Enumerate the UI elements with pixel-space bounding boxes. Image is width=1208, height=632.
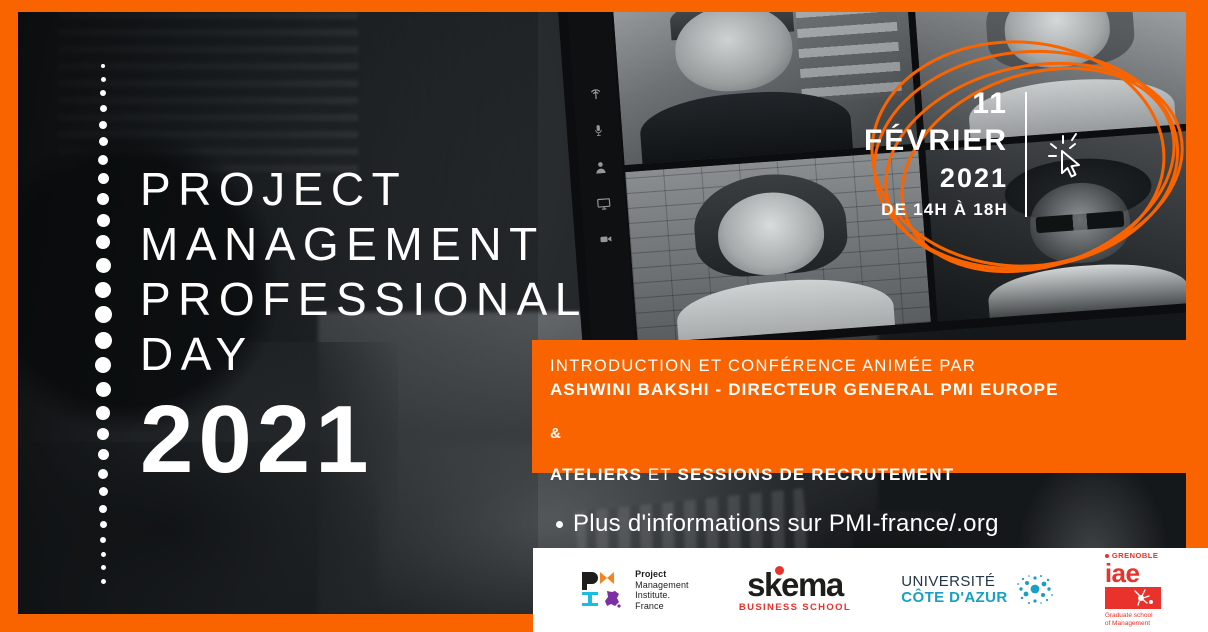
iae-subtitle: Graduate school of Management (1105, 612, 1153, 628)
pmi-logo-text: Project Management Institute. France (635, 569, 689, 611)
workshops-conjunction: ET (642, 465, 677, 484)
uca-text-line-2: CÔTE D'AZUR (901, 590, 1007, 606)
microphone-icon (591, 123, 605, 144)
date-divider (1025, 92, 1027, 217)
iae-wordmark: iae (1105, 561, 1140, 585)
headline-line-4: DAY (140, 327, 588, 382)
pmi-mark-icon (580, 570, 626, 610)
decorative-dot-column (90, 64, 116, 584)
signal-waves-icon (587, 86, 603, 107)
headline-line-3: PROFESSIONAL (140, 272, 588, 327)
bullet-icon (556, 521, 563, 528)
speaker-name-text: ASHWINI BAKSHI - DIRECTEUR GENERAL PMI E… (550, 378, 1186, 402)
skema-dot-icon (775, 566, 784, 575)
monitor-icon (594, 196, 612, 216)
workshops-line: ATELIERS ET SESSIONS DE RECRUTEMENT (550, 463, 1186, 487)
iae-graphic-block (1105, 587, 1161, 609)
pmi-france-logo: Project Management Institute. France (580, 569, 689, 611)
universite-cote-dazur-logo: UNIVERSITÉ CÔTE D'AZUR (901, 573, 1054, 607)
headline-line-1: PROJECT (140, 162, 588, 217)
iae-subtitle-line-2: of Management (1105, 620, 1153, 628)
ampersand-separator: & (550, 424, 1186, 444)
video-camera-icon (596, 232, 615, 251)
pmi-text-line-4: France (635, 601, 689, 612)
click-cursor-icon (1044, 88, 1090, 223)
date-hours: DE 14H À 18H (864, 197, 1008, 223)
more-info-text: Plus d'informations sur PMI-france/.org (573, 510, 999, 538)
skema-subtitle: BUSINESS SCHOOL (739, 603, 851, 613)
date-text-group: 11 FÉVRIER 2021 DE 14H À 18H (864, 88, 1008, 223)
date-month: FÉVRIER (864, 122, 1008, 160)
iae-burst-icon (1105, 587, 1161, 609)
headline-year: 2021 (140, 388, 588, 492)
person-icon (593, 159, 608, 180)
uca-text-line-1: UNIVERSITÉ (901, 574, 1007, 590)
recruitment-label: SESSIONS DE RECRUTEMENT (677, 465, 954, 484)
date-year: 2021 (864, 162, 1008, 195)
more-info-line: Plus d'informations sur PMI-france/.org (556, 510, 999, 538)
pmi-text-line-2: Management (635, 580, 689, 591)
speaker-info-panel: INTRODUCTION ET CONFÉRENCE ANIMÉE PAR AS… (532, 340, 1186, 473)
event-headline: PROJECT MANAGEMENT PROFESSIONAL DAY 2021 (140, 162, 588, 492)
skema-logo: skema BUSINESS SCHOOL (739, 568, 851, 613)
uca-logo-text: UNIVERSITÉ CÔTE D'AZUR (901, 574, 1007, 606)
event-banner: PROJECT MANAGEMENT PROFESSIONAL DAY 2021… (0, 0, 1208, 632)
background-photo: PROJECT MANAGEMENT PROFESSIONAL DAY 2021… (18, 12, 1186, 614)
workshops-label: ATELIERS (550, 465, 642, 484)
partner-logo-bar: Project Management Institute. France ske… (533, 548, 1208, 632)
date-day: 11 (864, 88, 1008, 120)
pmi-text-line-3: Institute. (635, 590, 689, 601)
iae-subtitle-line-1: Graduate school (1105, 612, 1153, 620)
speaker-intro-text: INTRODUCTION ET CONFÉRENCE ANIMÉE PAR (550, 354, 1186, 378)
pmi-text-line-1: Project (635, 569, 689, 580)
grenoble-iae-logo: GRENOBLE iae Graduate school of Manageme… (1105, 552, 1161, 628)
headline-line-2: MANAGEMENT (140, 217, 588, 272)
event-date-block: 11 FÉVRIER 2021 DE 14H À 18H (864, 88, 1090, 223)
skema-word-text: skema (747, 566, 843, 603)
uca-dot-cluster-icon (1015, 573, 1055, 607)
skema-wordmark: skema (747, 568, 843, 601)
